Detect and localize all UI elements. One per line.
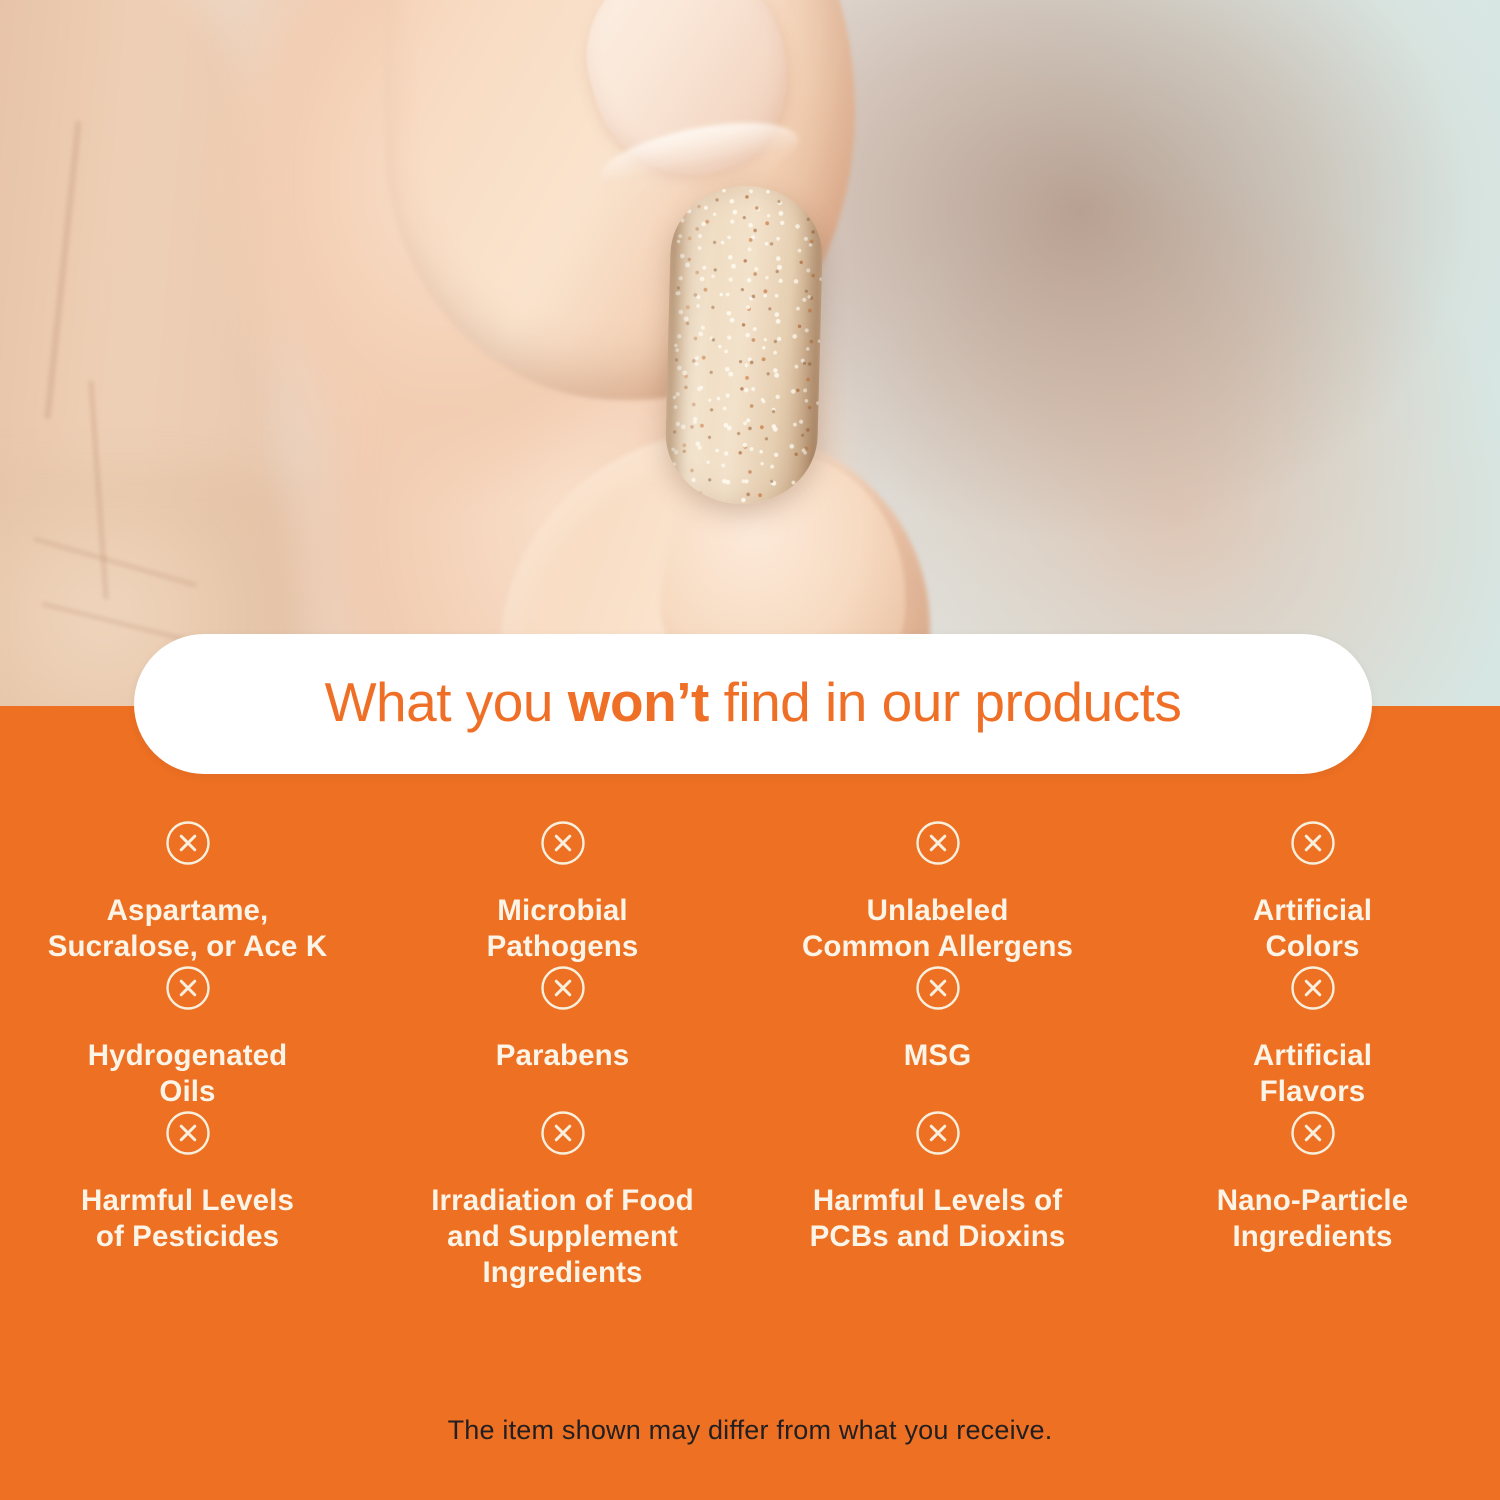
- exclusion-item: Harmful Levels of PCBs and Dioxins: [750, 1110, 1125, 1291]
- exclusion-label: Harmful Levels of Pesticides: [81, 1183, 294, 1255]
- exclusion-label: Hydrogenated Oils: [88, 1038, 288, 1110]
- exclusion-label: Aspartame, Sucralose, or Ace K: [48, 893, 328, 965]
- circle-x-icon: [165, 1110, 211, 1161]
- exclusion-label: Artificial Colors: [1253, 893, 1372, 965]
- circle-x-icon: [1290, 820, 1336, 871]
- title-part-2: find in our products: [709, 671, 1182, 733]
- exclusion-label: Nano-Particle Ingredients: [1217, 1183, 1408, 1255]
- exclusion-item: Nano-Particle Ingredients: [1125, 1110, 1500, 1291]
- disclaimer-text: The item shown may differ from what you …: [0, 1415, 1500, 1446]
- circle-x-icon: [540, 965, 586, 1016]
- exclusion-label: Harmful Levels of PCBs and Dioxins: [810, 1183, 1066, 1255]
- exclusion-label: Artificial Flavors: [1253, 1038, 1372, 1110]
- exclusion-item: Irradiation of Food and Supplement Ingre…: [375, 1110, 750, 1291]
- exclusion-item: Artificial Colors: [1125, 820, 1500, 965]
- exclusions-grid: Aspartame, Sucralose, or Ace K Microbial…: [0, 820, 1500, 1291]
- exclusion-item: Microbial Pathogens: [375, 820, 750, 965]
- circle-x-icon: [165, 820, 211, 871]
- exclusion-item: Aspartame, Sucralose, or Ace K: [0, 820, 375, 965]
- title-card: What you won’t find in our products: [134, 634, 1372, 774]
- circle-x-icon: [540, 1110, 586, 1161]
- circle-x-icon: [1290, 965, 1336, 1016]
- supplement-tablet: [664, 184, 824, 506]
- exclusion-item: Unlabeled Common Allergens: [750, 820, 1125, 965]
- exclusion-label: Microbial Pathogens: [487, 893, 639, 965]
- circle-x-icon: [1290, 1110, 1336, 1161]
- circle-x-icon: [915, 820, 961, 871]
- exclusion-label: Parabens: [496, 1038, 630, 1074]
- circle-x-icon: [540, 820, 586, 871]
- exclusion-item: Hydrogenated Oils: [0, 965, 375, 1110]
- exclusion-item: MSG: [750, 965, 1125, 1110]
- product-claims-infographic: What you won’t find in our products Aspa…: [0, 0, 1500, 1500]
- exclusion-item: Parabens: [375, 965, 750, 1110]
- page-title: What you won’t find in our products: [325, 675, 1182, 734]
- exclusion-label: Irradiation of Food and Supplement Ingre…: [431, 1183, 693, 1291]
- tablet-sheen: [668, 184, 716, 503]
- circle-x-icon: [915, 965, 961, 1016]
- circle-x-icon: [165, 965, 211, 1016]
- exclusion-item: Artificial Flavors: [1125, 965, 1500, 1110]
- exclusion-label: Unlabeled Common Allergens: [802, 893, 1073, 965]
- exclusion-item: Harmful Levels of Pesticides: [0, 1110, 375, 1291]
- hero-photo: [0, 0, 1500, 706]
- title-emphasis: won’t: [568, 671, 709, 733]
- exclusion-label: MSG: [904, 1038, 972, 1074]
- circle-x-icon: [915, 1110, 961, 1161]
- title-part-1: What you: [325, 671, 568, 733]
